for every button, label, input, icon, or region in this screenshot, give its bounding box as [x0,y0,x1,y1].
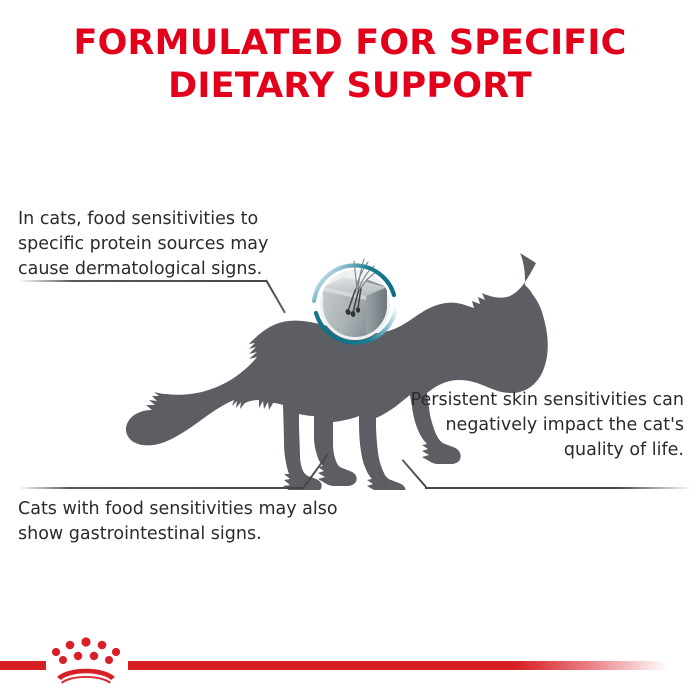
page-title-line-1: FORMULATED FOR SPECIFIC [0,22,700,65]
footer-rule-left [0,661,46,670]
leader-line-diagonal [265,280,286,314]
leader-line-horizontal [425,487,692,489]
callout-text-bottom-left: Cats with food sensitivities may also sh… [18,497,348,547]
royal-canin-crown-logo [50,636,128,684]
page-title-line-2: DIETARY SUPPORT [0,65,700,108]
leader-line-diagonal [303,454,328,488]
callout-text-right: Persistent skin sensitivities can negati… [384,388,684,463]
leader-line-top-left [18,280,318,320]
callout-text-top-left: In cats, food sensitivities to specific … [18,207,298,282]
leader-line-diagonal [402,459,427,487]
page-title: FORMULATED FOR SPECIFIC DIETARY SUPPORT [0,22,700,108]
footer-rule-right [128,661,668,670]
page-root: FORMULATED FOR SPECIFIC DIETARY SUPPORT [0,0,700,700]
leader-line-horizontal [18,487,304,489]
leader-line-bottom-left [18,450,338,490]
leader-line-right [392,462,692,498]
